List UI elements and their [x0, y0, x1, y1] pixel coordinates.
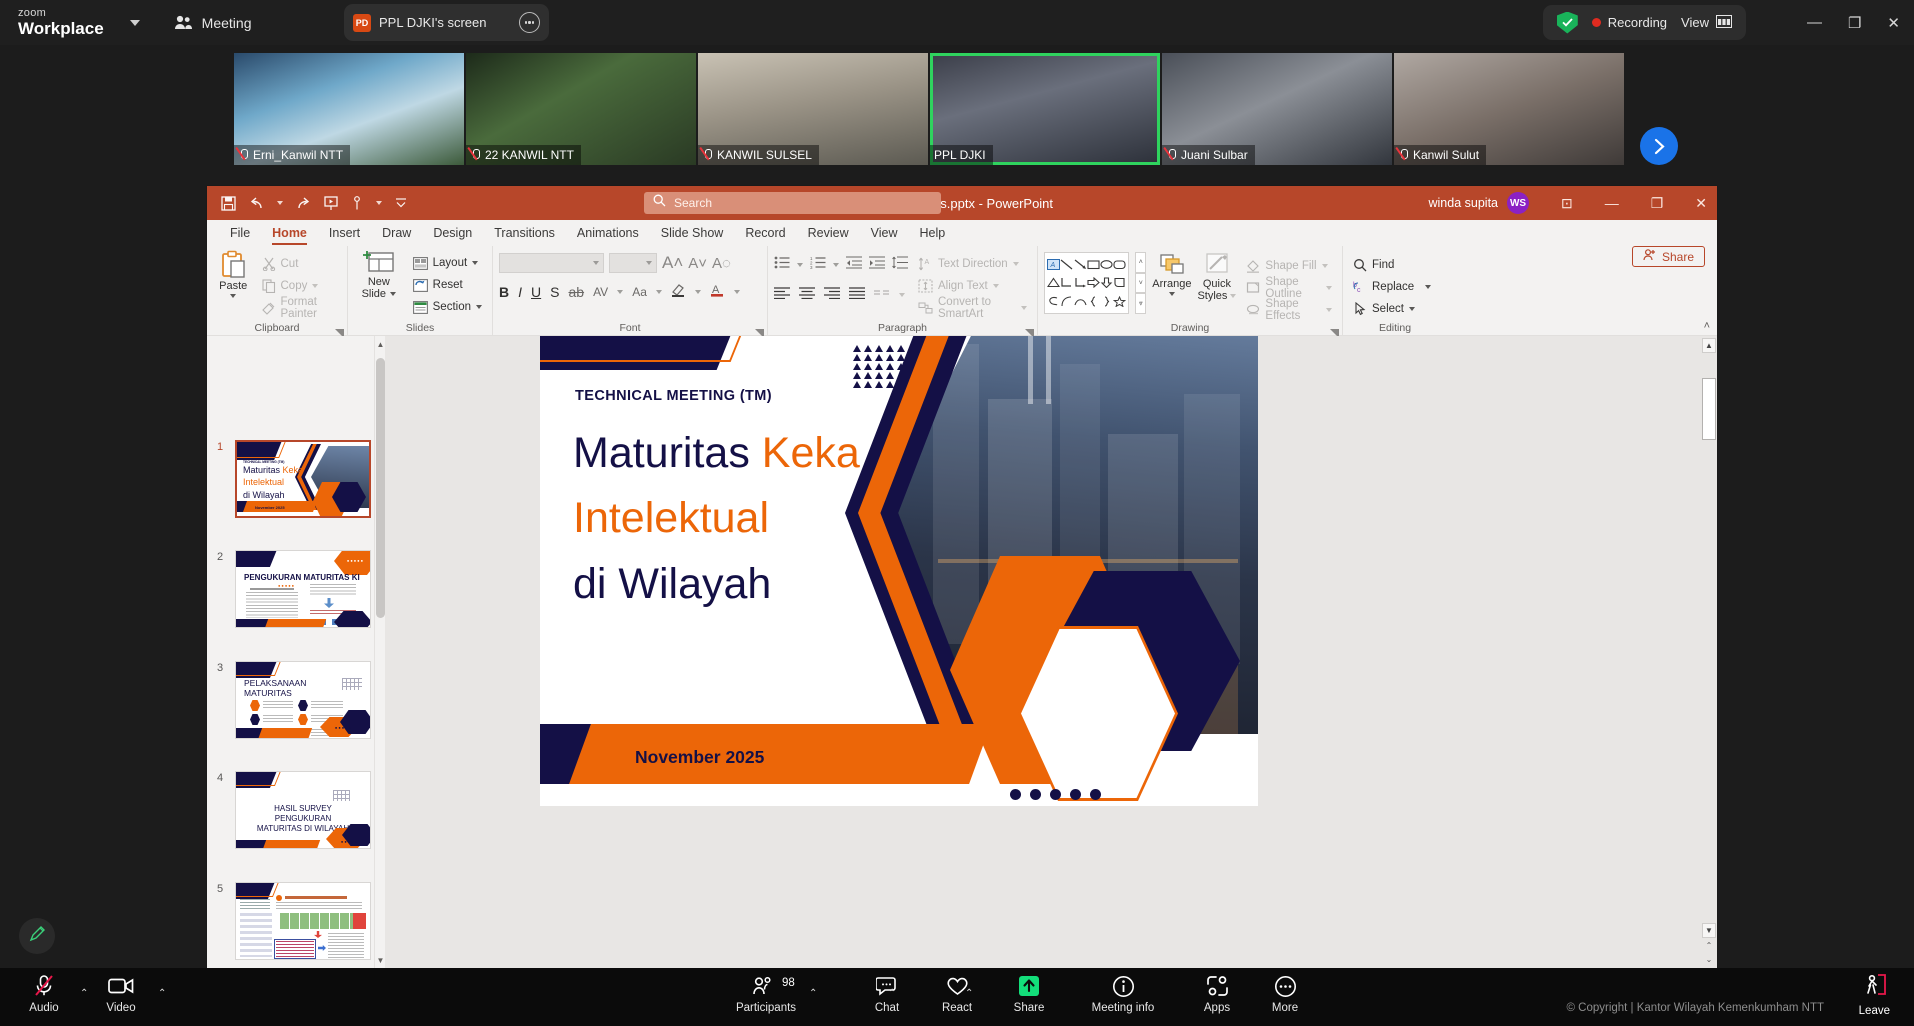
text-direction-chevron-down-icon: [1013, 262, 1019, 266]
shape-elbow-connector-icon[interactable]: [1060, 274, 1073, 293]
tab-view[interactable]: View: [860, 220, 909, 246]
new-slide-chevron-down-icon[interactable]: [390, 292, 396, 296]
zoom-top-toolbar: zoom Workplace Meeting PD PPL DJKI's scr…: [0, 0, 1914, 45]
decrease-indent-icon[interactable]: [846, 256, 862, 274]
slide-scroll-down-icon[interactable]: ▼: [1702, 923, 1716, 938]
ribbon-group-drawing: A: [1037, 246, 1342, 336]
video-strip-next-button[interactable]: [1640, 127, 1678, 165]
previous-slide-icon[interactable]: ⌃: [1702, 939, 1716, 952]
shape-down-arrow-icon[interactable]: [1100, 274, 1113, 293]
thumb-scroll-down-icon[interactable]: ▼: [375, 954, 385, 966]
slide-thumbnail-2[interactable]: ●●●●● PENGUKURAN MATURITAS KI ●●●●●: [235, 550, 371, 628]
chat-control[interactable]: Chat: [855, 973, 919, 1014]
select-chevron-down-icon[interactable]: [1409, 307, 1415, 311]
font-dialog-launcher-icon[interactable]: [755, 325, 764, 334]
increase-font-size-icon[interactable]: A˄: [662, 253, 683, 273]
security-shield-icon[interactable]: [1557, 12, 1578, 34]
participant-name: PPL DJKI: [934, 148, 986, 162]
participants-count: 98: [782, 977, 795, 989]
shape-fill-button: Shape Fill: [1242, 255, 1336, 277]
svg-text:A: A: [925, 259, 930, 266]
reset-button[interactable]: Reset: [409, 274, 486, 296]
replace-label: Replace: [1372, 281, 1414, 293]
ribbon-group-editing: Find bc Replace Select Editing: [1342, 246, 1447, 336]
ribbon-display-options-icon[interactable]: ⊡: [1561, 195, 1573, 212]
tab-record[interactable]: Record: [734, 220, 796, 246]
apps-label: Apps: [1204, 1002, 1230, 1014]
zoom-bottom-toolbar: Audio ⌃ Video ⌃ Participants 98 ⌃ Chat ⌃…: [0, 968, 1914, 1026]
shapes-scroll-down-icon[interactable]: ˅: [1135, 273, 1146, 294]
participant-name: KANWIL SULSEL: [717, 148, 812, 162]
mic-off-icon: [1166, 148, 1177, 162]
share-button-label: Share: [1662, 250, 1694, 264]
share-arrow-icon: [1017, 973, 1041, 999]
shape-oval-icon[interactable]: [1100, 255, 1113, 274]
ribbon-group-slides: New Slide Layout Reset: [347, 246, 492, 336]
shape-effects-label: Shape Effects: [1265, 298, 1321, 322]
layout-button[interactable]: Layout: [409, 252, 486, 274]
account-name: winda supita: [1429, 196, 1499, 210]
screen-tab-more-icon[interactable]: [519, 12, 540, 33]
meeting-tab[interactable]: Meeting: [174, 15, 252, 31]
tab-transitions[interactable]: Transitions: [483, 220, 566, 246]
more-control[interactable]: More: [1253, 973, 1317, 1014]
slide-number: 4: [217, 772, 223, 784]
select-button[interactable]: Select: [1349, 298, 1441, 320]
video-tile-name-bar: KANWIL SULSEL: [698, 145, 819, 165]
slide-stage[interactable]: TECHNICAL MEETING (TM) Maturitas Keka In…: [385, 336, 1717, 968]
slide-scroll-up-icon[interactable]: ▲: [1702, 338, 1716, 353]
recording-indicator[interactable]: Recording: [1592, 15, 1667, 30]
participant-name: Juani Sulbar: [1181, 148, 1248, 162]
mic-off-icon: [702, 148, 713, 162]
thumb3-line1: PELAKSANAAN: [244, 678, 306, 688]
bullets-icon[interactable]: [774, 256, 790, 274]
shape-right-brace-icon[interactable]: [1100, 292, 1113, 311]
view-button[interactable]: View: [1681, 15, 1732, 31]
font-name-chevron-down-icon[interactable]: [593, 261, 599, 265]
thumb3-line2: MATURITAS: [244, 688, 292, 698]
find-label: Find: [1372, 259, 1394, 271]
shapes-gallery[interactable]: A: [1044, 252, 1129, 314]
text-highlight-icon[interactable]: [671, 282, 686, 302]
share-label: Share: [1014, 1002, 1045, 1014]
video-tile-name-bar: Juani Sulbar: [1162, 145, 1255, 165]
spacing-chevron-down-icon[interactable]: [617, 290, 623, 294]
people-icon: [174, 15, 193, 30]
powerpoint-window-controls: ⊡ — ❐ ✕: [1561, 186, 1707, 220]
slide-date-text: November 2025: [635, 747, 764, 768]
meeting-tab-label: Meeting: [202, 15, 252, 31]
cut-button: Cut: [258, 253, 342, 275]
new-slide-label-line2: Slide: [362, 288, 386, 300]
audio-label: Audio: [29, 1002, 58, 1014]
copyright-text: © Copyright | Kantor Wilayah Kemenkumham…: [1566, 1002, 1824, 1014]
slide-kicker-text: TECHNICAL MEETING (TM): [575, 388, 772, 404]
close-button[interactable]: ✕: [1887, 14, 1900, 32]
shape-block-arrow-icon[interactable]: [1087, 274, 1100, 293]
align-left-icon[interactable]: [774, 286, 790, 304]
section-label: Section: [433, 301, 471, 313]
tab-animations[interactable]: Animations: [566, 220, 650, 246]
ribbon-group-clipboard: Paste Cut Copy Format Painte: [207, 246, 347, 336]
react-chevron-up-icon[interactable]: ⌃: [965, 988, 973, 999]
align-text-chevron-down-icon: [993, 284, 999, 288]
svg-text:3: 3: [810, 265, 813, 269]
replace-button[interactable]: bc Replace: [1349, 276, 1441, 298]
leave-label: Leave: [1859, 1005, 1890, 1017]
svg-text:A: A: [1050, 262, 1056, 269]
shape-effects-button: Shape Effects: [1242, 299, 1336, 321]
slides-group-label: Slides: [348, 322, 492, 334]
zoom-logo-small: zoom: [18, 8, 104, 19]
annotate-pen-button[interactable]: [19, 918, 55, 954]
tab-help[interactable]: Help: [908, 220, 956, 246]
video-tile[interactable]: Juani Sulbar: [1162, 53, 1392, 165]
video-tile-name-bar: PPL DJKI: [930, 145, 993, 165]
mic-off-icon: [1398, 148, 1409, 162]
layout-chevron-down-icon[interactable]: [472, 261, 478, 265]
shape-outline-button: Shape Outline: [1242, 277, 1336, 299]
reset-label: Reset: [433, 279, 463, 291]
layout-grid-icon: [1716, 15, 1732, 31]
view-label: View: [1681, 15, 1709, 30]
participants-icon: [753, 973, 779, 999]
apps-control[interactable]: Apps: [1185, 973, 1249, 1014]
align-text-label: Align Text: [938, 280, 988, 292]
shapes-scroll-up-icon[interactable]: ˄: [1135, 252, 1146, 273]
participant-name: Kanwil Sulut: [1413, 148, 1479, 162]
quick-styles-button: Quick Styles: [1197, 252, 1236, 321]
shape-rounded-rect-icon[interactable]: [1113, 255, 1126, 274]
format-painter-button: Format Painter: [258, 297, 342, 319]
react-control[interactable]: React: [925, 973, 989, 1014]
highlight-chevron-down-icon[interactable]: [695, 290, 701, 294]
leave-icon: [1861, 973, 1887, 1002]
shape-rectangle-icon[interactable]: [1087, 255, 1100, 274]
copy-button: Copy: [258, 275, 342, 297]
info-icon: [1112, 973, 1135, 999]
powerpoint-title-bar: TM Maturitas.pptx - PowerPoint Search wi…: [207, 186, 1717, 220]
participant-name: Erni_Kanwil NTT: [253, 148, 343, 162]
tab-review[interactable]: Review: [797, 220, 860, 246]
font-color-chevron-down-icon[interactable]: [734, 290, 740, 294]
line-spacing-icon[interactable]: [892, 256, 908, 274]
slide-title-part3: Intelektual: [573, 494, 769, 542]
shape-textbox-icon[interactable]: A: [1047, 255, 1060, 274]
tab-design[interactable]: Design: [422, 220, 483, 246]
section-button[interactable]: Section: [409, 296, 486, 318]
clear-formatting-icon[interactable]: A◌: [712, 255, 731, 272]
video-label: Video: [106, 1002, 135, 1014]
slide-thumbnail-1[interactable]: TECHNICAL MEETING (TM) Maturitas Keka In…: [235, 440, 371, 518]
font-group-label: Font: [493, 322, 767, 334]
arrange-button[interactable]: Arrange: [1152, 252, 1191, 321]
slide-vertical-scrollbar[interactable]: ▲ ▼ ⌃ ⌄: [1701, 336, 1717, 968]
tab-draw[interactable]: Draw: [371, 220, 422, 246]
maximize-button[interactable]: ❐: [1848, 14, 1861, 32]
shape-scribble-icon[interactable]: [1047, 292, 1060, 311]
convert-to-smartart-button: Convert to SmartArt: [914, 297, 1031, 319]
thumb4-line1: HASIL SURVEY: [236, 804, 370, 813]
decrease-font-size-icon[interactable]: A˅: [688, 255, 707, 272]
align-right-icon[interactable]: [824, 286, 840, 304]
font-size-chevron-down-icon[interactable]: [646, 261, 652, 265]
slide-number: 2: [217, 551, 223, 563]
participant-name: 22 KANWIL NTT: [485, 148, 574, 162]
shapes-scroll-controls[interactable]: ˄ ˅ ⩔: [1135, 252, 1146, 314]
slide-number: 5: [217, 883, 223, 895]
bullets-chevron-down-icon[interactable]: [797, 263, 803, 267]
search-placeholder: Search: [674, 196, 712, 210]
audio-chevron-up-icon[interactable]: ⌃: [80, 988, 88, 999]
case-chevron-down-icon[interactable]: [656, 290, 662, 294]
shape-curve-icon[interactable]: [1060, 292, 1073, 311]
slide-title-part4: di Wilayah: [573, 560, 771, 608]
bold-button[interactable]: B: [499, 284, 509, 300]
font-name-input[interactable]: [499, 253, 604, 273]
shape-outline-label: Shape Outline: [1265, 276, 1321, 300]
ribbon-group-font: A˄ A˅ A◌ B I U S ab AV Aa A Font: [492, 246, 767, 336]
search-icon: [653, 194, 666, 212]
editing-group-label: Editing: [1343, 322, 1447, 334]
new-slide-label-line1: New: [368, 276, 390, 288]
new-slide-button[interactable]: New Slide: [354, 250, 404, 318]
slide-date-orange-band: [569, 724, 991, 784]
participants-chevron-up-icon[interactable]: ⌃: [809, 988, 817, 999]
participant-video-strip: Erni_Kanwil NTT 22 KANWIL NTT KANWIL SUL…: [0, 45, 1914, 175]
copy-label: Copy: [281, 280, 308, 292]
cut-label: Cut: [281, 258, 299, 270]
pen-icon: [29, 925, 46, 947]
avatar[interactable]: WS: [1507, 192, 1529, 214]
zoom-window-controls: — ❐ ✕: [1807, 0, 1900, 45]
character-spacing-button[interactable]: AV: [593, 285, 608, 299]
justify-icon[interactable]: [849, 286, 865, 304]
mic-off-icon: [470, 148, 481, 162]
video-tile[interactable]: KANWIL SULSEL: [698, 53, 928, 165]
smartart-chevron-down-icon: [1021, 306, 1027, 310]
slide-number: 3: [217, 662, 223, 674]
tab-slide-show[interactable]: Slide Show: [650, 220, 735, 246]
paste-button[interactable]: Paste: [213, 250, 254, 319]
ppt-restore-button[interactable]: ❐: [1651, 195, 1664, 212]
tab-file[interactable]: File: [219, 220, 261, 246]
slide-title: Maturitas Keka Intelektual di Wilayah: [573, 421, 1053, 617]
tab-insert[interactable]: Insert: [318, 220, 371, 246]
video-tile[interactable]: Kanwil Sulut: [1394, 53, 1624, 165]
video-tile-name-bar: Kanwil Sulut: [1394, 145, 1486, 165]
layout-label: Layout: [433, 257, 468, 269]
more-label: More: [1272, 1002, 1298, 1014]
replace-chevron-down-icon[interactable]: [1425, 285, 1431, 289]
video-control[interactable]: Video: [89, 973, 153, 1014]
columns-icon: [874, 286, 890, 304]
audio-control[interactable]: Audio: [12, 973, 76, 1014]
top-right-status-group: Recording View: [1543, 5, 1746, 40]
shape-left-brace-icon[interactable]: [1087, 292, 1100, 311]
tab-home[interactable]: Home: [261, 220, 318, 246]
active-slide[interactable]: TECHNICAL MEETING (TM) Maturitas Keka In…: [540, 336, 1258, 806]
camera-icon: [108, 973, 134, 999]
drawing-dialog-launcher-icon[interactable]: [1330, 325, 1339, 334]
shape-elbow-arrow-icon[interactable]: [1073, 274, 1086, 293]
account-area[interactable]: winda supita WS: [1429, 186, 1530, 220]
video-chevron-up-icon[interactable]: ⌃: [158, 988, 166, 999]
minimize-button[interactable]: —: [1807, 14, 1822, 31]
shape-fill-label: Shape Fill: [1265, 260, 1316, 272]
react-label: React: [942, 1002, 972, 1014]
ribbon: Paste Cut Copy Format Painte: [207, 246, 1717, 336]
powerpoint-workspace: 1 TECHNICAL MEETING (TM) Maturitas Keka …: [207, 336, 1717, 968]
leave-control[interactable]: Leave: [1859, 973, 1890, 1017]
quick-styles-chevron-down-icon: [1230, 294, 1236, 298]
format-painter-label: Format Painter: [281, 296, 338, 320]
video-tile[interactable]: 22 KANWIL NTT: [466, 53, 696, 165]
copy-chevron-down-icon: [312, 284, 318, 288]
arrange-chevron-down-icon[interactable]: [1169, 292, 1175, 296]
svg-text:c: c: [1357, 287, 1361, 294]
meeting-info-control[interactable]: Meeting info: [1078, 973, 1168, 1014]
screen-tab-badge: PD: [353, 14, 371, 32]
thumb-scroll-up-icon[interactable]: ▲: [375, 338, 385, 350]
quick-styles-label-2: Styles: [1197, 290, 1227, 302]
ribbon-group-paragraph: 123: [767, 246, 1037, 336]
powerpoint-window: TM Maturitas.pptx - PowerPoint Search wi…: [207, 186, 1717, 968]
find-button[interactable]: Find: [1349, 254, 1441, 276]
shape-outline-chevron-down-icon: [1326, 286, 1332, 290]
slide-top-orange-outline: [540, 336, 807, 362]
font-format-row: B I U S ab AV Aa A: [499, 279, 761, 305]
increase-indent-icon[interactable]: [869, 256, 885, 274]
video-tile-active[interactable]: PPL DJKI: [930, 53, 1160, 165]
participants-label: Participants: [736, 1002, 796, 1014]
text-shadow-button[interactable]: S: [550, 284, 559, 300]
slide-scrollbar-thumb[interactable]: [1702, 378, 1716, 440]
search-box[interactable]: Search: [644, 192, 941, 214]
chat-chevron-up-icon[interactable]: ⌃: [888, 988, 896, 999]
italic-button[interactable]: I: [518, 284, 522, 300]
shape-triangle-icon[interactable]: [1047, 274, 1060, 293]
paragraph-group-label: Paragraph: [768, 322, 1037, 334]
zoom-logo-main: Workplace: [18, 20, 104, 37]
align-center-icon[interactable]: [799, 286, 815, 304]
mic-off-icon: [33, 973, 55, 999]
arrange-label: Arrange: [1152, 278, 1191, 290]
video-tile-name-bar: Erni_Kanwil NTT: [234, 145, 350, 165]
shape-arc-icon[interactable]: [1073, 292, 1086, 311]
slide-dots-decoration: [1010, 789, 1101, 800]
share-control[interactable]: Share: [997, 973, 1061, 1014]
share-button[interactable]: Share: [1632, 246, 1705, 267]
change-case-button[interactable]: Aa: [632, 285, 647, 299]
numbering-chevron-down-icon[interactable]: [833, 263, 839, 267]
meeting-info-label: Meeting info: [1092, 1002, 1155, 1014]
clipboard-dialog-launcher-icon[interactable]: [335, 325, 344, 334]
workspace-chevron-down-icon[interactable]: [130, 20, 140, 26]
shared-screen-tab[interactable]: PD PPL DJKI's screen: [344, 4, 549, 41]
ribbon-tabs: File Home Insert Draw Design Transitions…: [207, 220, 1717, 246]
numbering-icon[interactable]: 123: [810, 256, 826, 274]
clipboard-group-label: Clipboard: [207, 322, 347, 334]
shape-fill-chevron-down-icon: [1322, 264, 1328, 268]
shape-folded-corner-icon[interactable]: [1113, 274, 1126, 293]
thumb4-line2: PENGUKURAN: [236, 814, 370, 823]
thumbnail-panel-scrollbar[interactable]: ▲ ▼: [374, 336, 385, 968]
video-tile-name-bar: 22 KANWIL NTT: [466, 145, 581, 165]
more-dots-icon: [1274, 973, 1297, 999]
next-slide-icon[interactable]: ⌄: [1702, 953, 1716, 966]
convert-to-smartart-label: Convert to SmartArt: [938, 296, 1016, 320]
ppt-close-button[interactable]: ✕: [1695, 195, 1707, 212]
paste-label: Paste: [219, 280, 247, 292]
underline-button[interactable]: U: [531, 284, 541, 300]
zoom-logo: zoom Workplace: [18, 8, 104, 37]
share-person-icon: [1643, 249, 1656, 264]
shape-line-icon[interactable]: [1060, 255, 1073, 274]
drawing-group-label: Drawing: [1038, 322, 1342, 334]
screen-tab-label: PPL DJKI's screen: [379, 15, 511, 30]
recording-label: Recording: [1608, 15, 1667, 30]
text-direction-label: Text Direction: [938, 258, 1008, 270]
slide-thumbnail-5[interactable]: [235, 882, 371, 960]
collapse-ribbon-icon[interactable]: ˄: [1704, 320, 1710, 332]
paste-chevron-down-icon[interactable]: [230, 294, 236, 298]
shapes-gallery-expand-icon[interactable]: ⩔: [1135, 293, 1146, 314]
slide-thumbnail-panel[interactable]: 1 TECHNICAL MEETING (TM) Maturitas Keka …: [207, 336, 385, 968]
quick-styles-label-1: Quick: [1203, 278, 1231, 290]
align-text-button: Align Text: [914, 275, 1031, 297]
select-label: Select: [1372, 303, 1404, 315]
shape-arrow-icon[interactable]: [1073, 255, 1086, 274]
mic-off-icon: [238, 148, 249, 162]
thumbnail-scrollbar-thumb[interactable]: [376, 358, 385, 618]
recording-dot-icon: [1592, 18, 1601, 27]
font-color-icon[interactable]: A: [710, 282, 725, 302]
shape-effects-chevron-down-icon: [1326, 308, 1332, 312]
ppt-minimize-button[interactable]: —: [1605, 195, 1619, 211]
video-tile[interactable]: Erni_Kanwil NTT: [234, 53, 464, 165]
slide-title-part1: Maturitas: [573, 429, 762, 477]
slide-thumbnail-3[interactable]: PELAKSANAAN MATURITAS ●●●●●: [235, 661, 371, 739]
thumb2-title: PENGUKURAN MATURITAS KI: [244, 573, 360, 582]
chat-label: Chat: [875, 1002, 899, 1014]
chevron-right-icon: [1653, 138, 1666, 155]
shape-star-icon[interactable]: [1113, 292, 1126, 311]
slide-title-part2: Keka: [762, 429, 860, 477]
strikethrough-button[interactable]: ab: [568, 284, 584, 300]
slide-thumbnail-4[interactable]: HASIL SURVEY PENGUKURAN MATURITAS DI WIL…: [235, 771, 371, 849]
paragraph-dialog-launcher-icon[interactable]: [1025, 325, 1034, 334]
columns-chevron-down-icon: [899, 293, 905, 297]
text-direction-button: A Text Direction: [914, 253, 1031, 275]
font-size-input[interactable]: [609, 253, 657, 273]
slide-number: 1: [217, 441, 223, 453]
apps-icon: [1206, 973, 1229, 999]
section-chevron-down-icon[interactable]: [476, 305, 482, 309]
